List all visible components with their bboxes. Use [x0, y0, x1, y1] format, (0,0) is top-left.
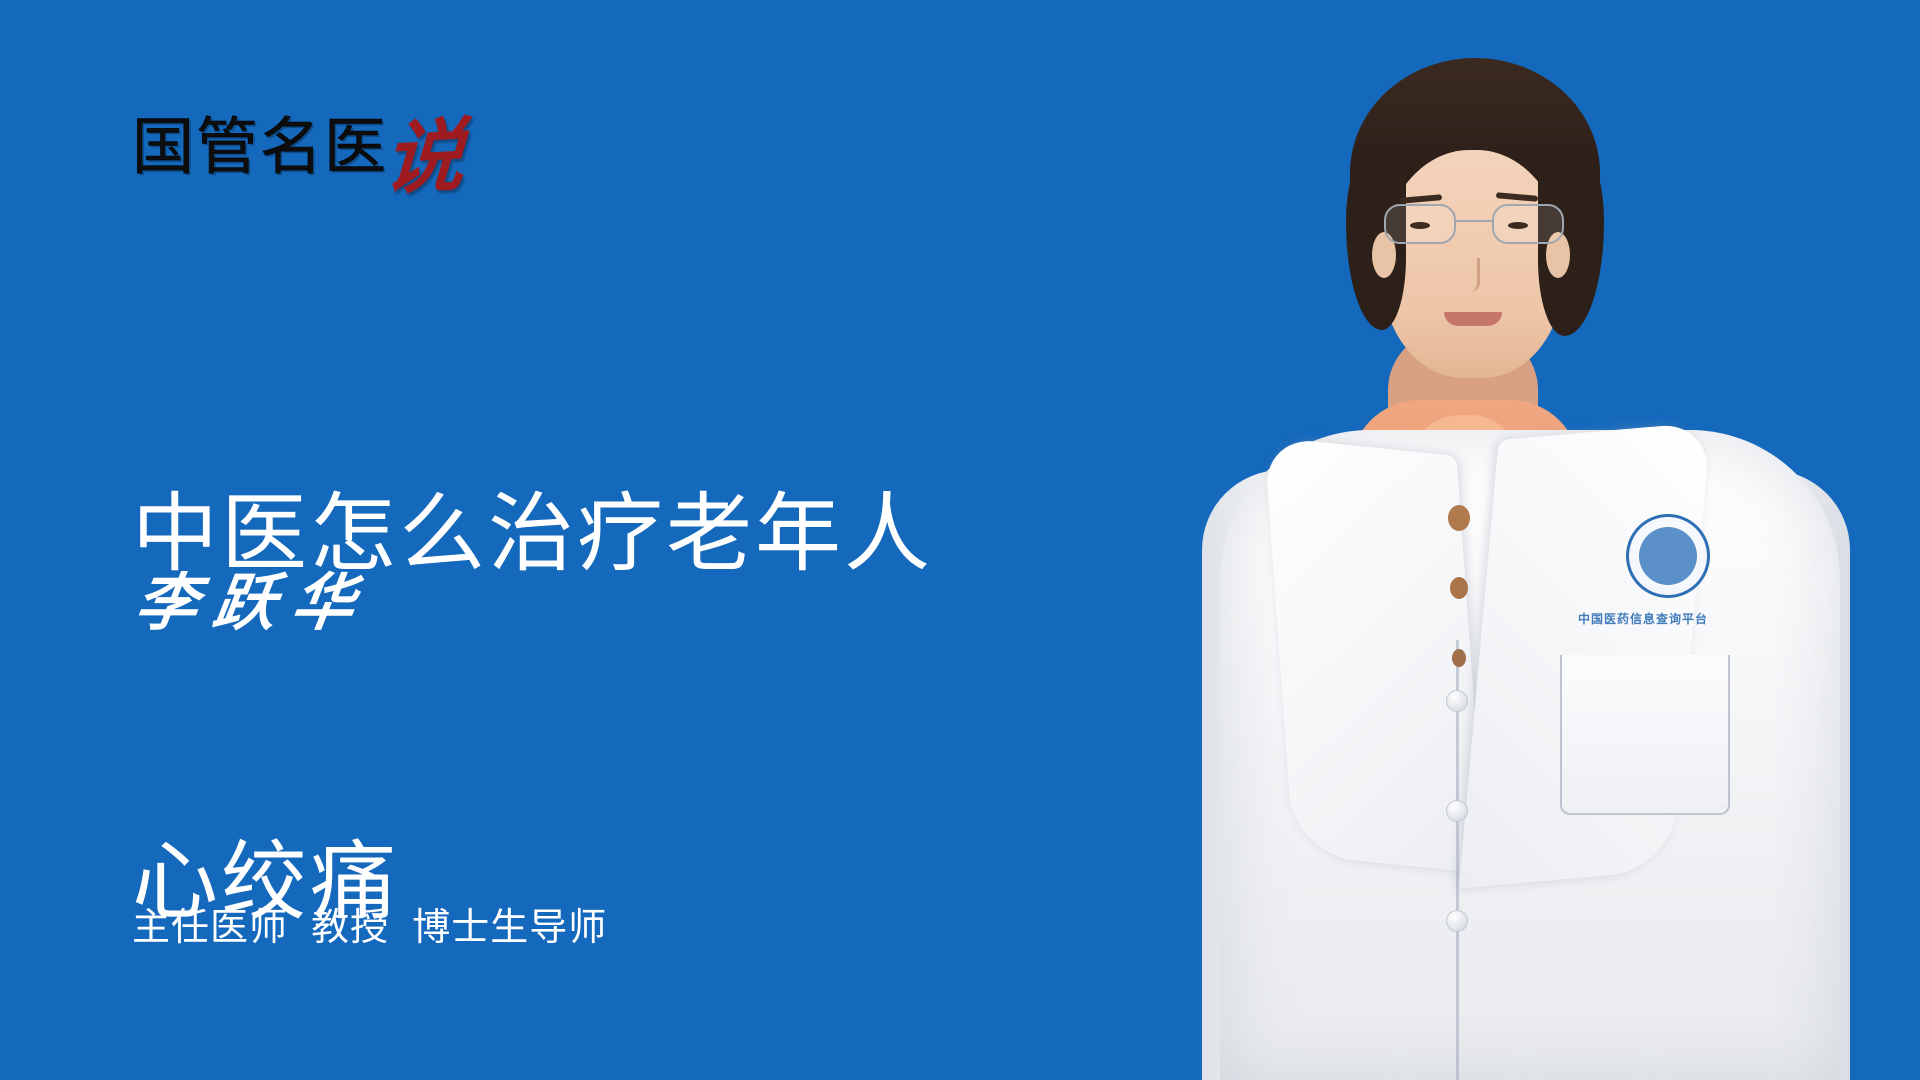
- credential-line: 主任医师 教授 博士生导师: [132, 886, 974, 970]
- coat-chest-pocket: [1560, 655, 1730, 815]
- doctor-credentials: 主任医师 教授 博士生导师 中国中医科学院西苑医院老年病科 主任 世界中医药学会…: [132, 718, 974, 1080]
- text-column: 国管名医 说 中医怎么治疗老年人 心绞痛 李跃华 主任医师 教授 博士生导师 中…: [132, 0, 1252, 1080]
- program-logo-accent-text: 说: [382, 124, 466, 190]
- emblem-inner: [1639, 527, 1697, 585]
- hospital-emblem-icon: [1626, 514, 1710, 598]
- necklace-pendant: [1448, 505, 1470, 531]
- doctor-portrait-photo: 中国医药信息查询平台: [1160, 0, 1920, 1080]
- glasses-bridge: [1456, 220, 1492, 222]
- mouth: [1444, 312, 1502, 326]
- coat-button: [1446, 910, 1468, 932]
- coat-badge-text: 中国医药信息查询平台: [1578, 610, 1768, 627]
- coat-button: [1446, 690, 1468, 712]
- eye-right: [1508, 222, 1528, 229]
- coat-button: [1446, 800, 1468, 822]
- poster-canvas: 中国医药信息查询平台 国管名医 说 中医怎么治疗老年人 心绞痛 李跃华: [0, 0, 1920, 1080]
- program-logo-main-text: 国管名医: [132, 116, 388, 178]
- nose: [1462, 258, 1480, 292]
- eye-left: [1410, 222, 1430, 229]
- program-logo: 国管名医 说: [132, 92, 464, 178]
- glasses-lens-right: [1492, 204, 1564, 244]
- doctor-name: 李跃华: [131, 568, 375, 638]
